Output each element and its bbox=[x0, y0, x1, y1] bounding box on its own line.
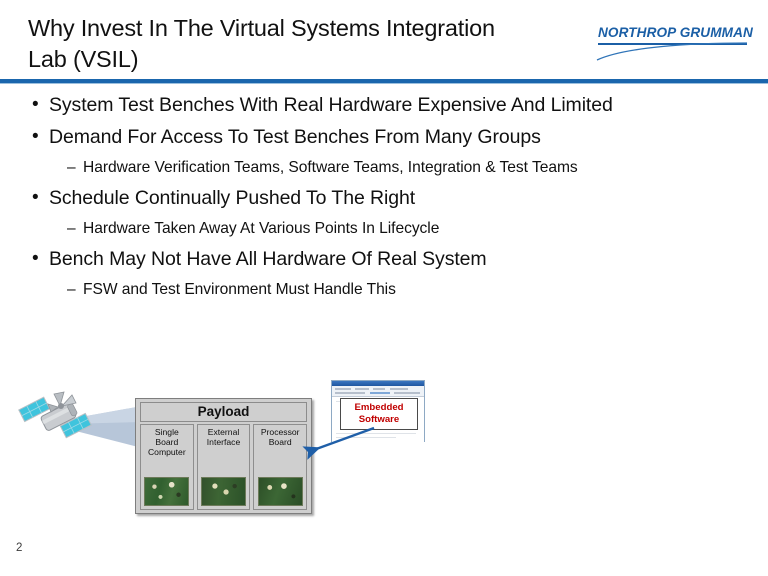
page-title: Why Invest In The Virtual Systems Integr… bbox=[28, 13, 573, 75]
bullet-marker: – bbox=[67, 215, 83, 242]
module-label: External Interface bbox=[207, 427, 240, 447]
payload-title: Payload bbox=[140, 402, 307, 422]
circuit-board-image bbox=[144, 477, 189, 506]
module-label: Single Board Computer bbox=[148, 427, 186, 458]
bullet-marker: • bbox=[32, 244, 49, 274]
payload-box: Payload Single Board Computer External I… bbox=[135, 398, 312, 514]
bullet-text: Bench May Not Have All Hardware Of Real … bbox=[49, 244, 487, 274]
list-item: – FSW and Test Environment Must Handle T… bbox=[0, 276, 768, 303]
list-item: – Hardware Taken Away At Various Points … bbox=[0, 215, 768, 242]
bullet-marker: • bbox=[32, 90, 49, 120]
list-item: • Schedule Continually Pushed To The Rig… bbox=[0, 183, 768, 213]
slide-header: Why Invest In The Virtual Systems Integr… bbox=[0, 0, 768, 80]
bullet-text: System Test Benches With Real Hardware E… bbox=[49, 90, 613, 120]
bullet-text: FSW and Test Environment Must Handle Thi… bbox=[83, 276, 396, 303]
logo-swoosh-icon bbox=[595, 42, 750, 61]
circuit-board-image bbox=[201, 477, 246, 506]
payload-module-external-interface: External Interface bbox=[197, 424, 251, 510]
list-item: • Demand For Access To Test Benches From… bbox=[0, 122, 768, 152]
bullet-text: Schedule Continually Pushed To The Right bbox=[49, 183, 415, 213]
module-label: Processor Board bbox=[261, 427, 300, 447]
embedded-software-to-payload-arrow bbox=[300, 424, 380, 464]
payload-module-list: Single Board Computer External Interface… bbox=[140, 424, 307, 510]
bullet-list: • System Test Benches With Real Hardware… bbox=[0, 90, 768, 305]
payload-architecture-diagram: Payload Single Board Computer External I… bbox=[0, 372, 460, 527]
bullet-text: Hardware Taken Away At Various Points In… bbox=[83, 215, 439, 242]
northrop-grumman-logo: NORTHROP GRUMMAN bbox=[595, 25, 750, 61]
bullet-marker: – bbox=[67, 154, 83, 181]
list-item: – Hardware Verification Teams, Software … bbox=[0, 154, 768, 181]
bullet-marker: – bbox=[67, 276, 83, 303]
payload-module-single-board-computer: Single Board Computer bbox=[140, 424, 194, 510]
header-divider-secondary bbox=[0, 83, 768, 84]
bullet-marker: • bbox=[32, 183, 49, 213]
payload-module-processor-board: Processor Board bbox=[253, 424, 307, 510]
satellite-icon bbox=[18, 386, 98, 448]
bullet-text: Hardware Verification Teams, Software Te… bbox=[83, 154, 578, 181]
bullet-text: Demand For Access To Test Benches From M… bbox=[49, 122, 541, 152]
list-item: • System Test Benches With Real Hardware… bbox=[0, 90, 768, 120]
list-item: • Bench May Not Have All Hardware Of Rea… bbox=[0, 244, 768, 274]
bullet-marker: • bbox=[32, 122, 49, 152]
window-toolbar bbox=[332, 386, 424, 397]
circuit-board-image bbox=[258, 477, 303, 506]
logo-wordmark: NORTHROP GRUMMAN bbox=[598, 25, 753, 40]
page-number: 2 bbox=[16, 542, 22, 554]
